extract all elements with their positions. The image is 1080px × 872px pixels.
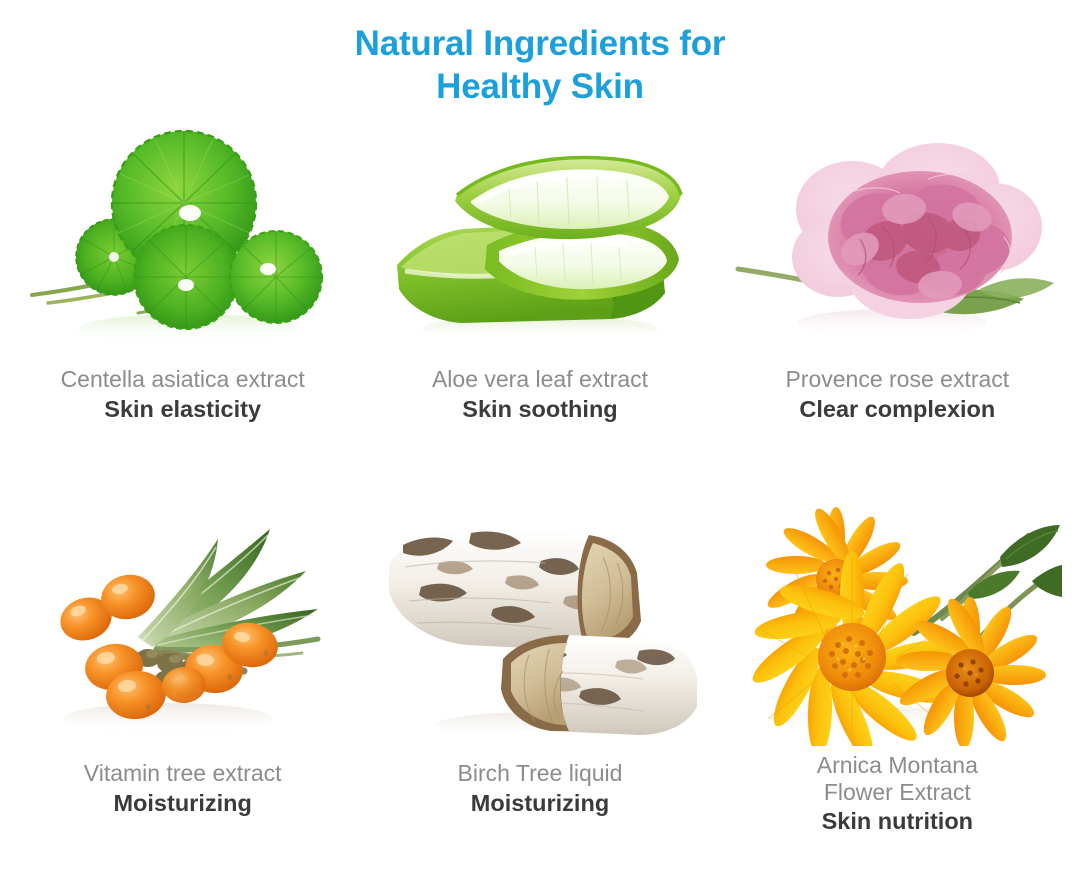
- centella-asiatica-leaves-photo: [4, 114, 361, 354]
- birch-tree-logs-photo: [361, 498, 718, 748]
- ingredient-name: Birch Tree liquid: [458, 760, 623, 787]
- ingredient-name-line-2: Flower Extract: [817, 779, 978, 806]
- ingredient-grid: Centella asiatica extract Skin elasticit…: [0, 108, 1080, 872]
- ingredient-card-rose: Provence rose extract Clear complexion: [719, 108, 1076, 490]
- ingredient-name: Aloe vera leaf extract: [432, 366, 648, 393]
- title-line-2: Healthy Skin: [0, 65, 1080, 108]
- ingredient-benefit: Clear complexion: [785, 396, 1009, 423]
- ingredient-name: Provence rose extract: [785, 366, 1009, 393]
- ingredient-benefit: Moisturizing: [458, 790, 623, 817]
- caption-centella: Centella asiatica extract Skin elasticit…: [61, 366, 305, 423]
- sea-buckthorn-berries-photo: [4, 498, 361, 748]
- ingredient-benefit: Skin soothing: [432, 396, 648, 423]
- ingredient-name: Centella asiatica extract: [61, 366, 305, 393]
- ingredient-card-arnica: Arnica Montana Flower Extract Skin nutri…: [719, 490, 1076, 872]
- title-line-1: Natural Ingredients for: [0, 22, 1080, 65]
- infographic-poster: Natural Ingredients for Healthy Skin: [0, 0, 1080, 872]
- ingredient-card-seabuckthorn: Vitamin tree extract Moisturizing: [4, 490, 361, 872]
- provence-rose-flower-photo: [719, 114, 1076, 354]
- caption-aloe: Aloe vera leaf extract Skin soothing: [432, 366, 648, 423]
- ingredient-card-aloe: Aloe vera leaf extract Skin soothing: [361, 108, 718, 490]
- caption-rose: Provence rose extract Clear complexion: [785, 366, 1009, 423]
- ingredient-name: Vitamin tree extract: [84, 760, 282, 787]
- caption-arnica: Arnica Montana Flower Extract Skin nutri…: [817, 752, 978, 836]
- arnica-montana-flowers-photo: [719, 498, 1076, 748]
- ingredient-name-line-1: Arnica Montana: [817, 752, 978, 779]
- ingredient-card-centella: Centella asiatica extract Skin elasticit…: [4, 108, 361, 490]
- caption-birch: Birch Tree liquid Moisturizing: [458, 760, 623, 817]
- page-title: Natural Ingredients for Healthy Skin: [0, 0, 1080, 108]
- ingredient-benefit: Skin elasticity: [61, 396, 305, 423]
- caption-seabuckthorn: Vitamin tree extract Moisturizing: [84, 760, 282, 817]
- ingredient-benefit: Moisturizing: [84, 790, 282, 817]
- aloe-vera-leaf-slices-photo: [361, 114, 718, 354]
- ingredient-benefit: Skin nutrition: [817, 808, 978, 835]
- ingredient-card-birch: Birch Tree liquid Moisturizing: [361, 490, 718, 872]
